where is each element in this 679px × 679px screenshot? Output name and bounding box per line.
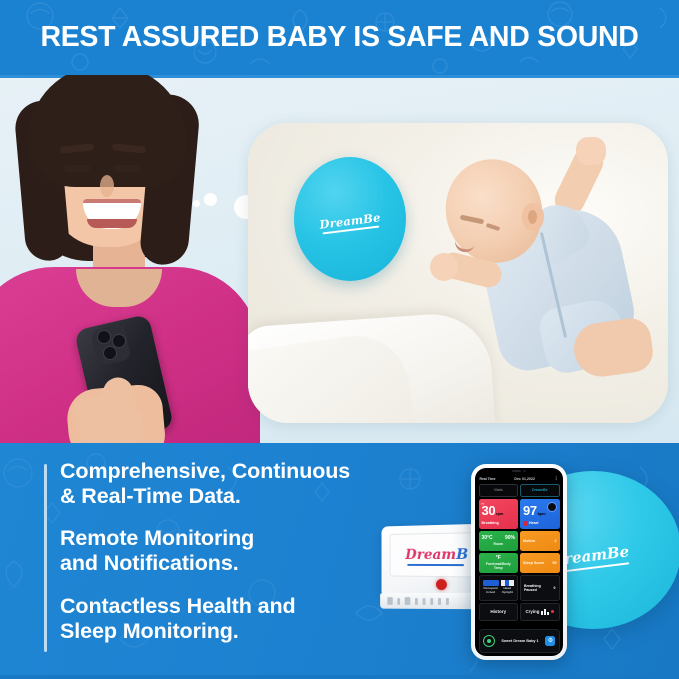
bullet-line: & Real-Time Data. <box>60 484 420 509</box>
breathing-label: Breathing <box>482 521 516 525</box>
bullet-line: Contactless Health and <box>60 594 420 619</box>
bullet-line: Comprehensive, Continuous <box>60 459 420 484</box>
bottom-edge <box>0 675 679 679</box>
crib-photo-card: DreamBe <box>248 123 668 423</box>
body-temp-value: °F <box>482 555 516 561</box>
promo-banner: REST ASSURED BABY IS SAFE AND SOUND <box>0 0 679 679</box>
logo-main-text: Dream <box>405 547 456 563</box>
dreambe-logo-text: DreamBe <box>319 211 382 232</box>
occupancy-tile[interactable]: Occupant in bed Head Upright <box>479 575 519 601</box>
room-temperature: 30°C <box>482 535 493 541</box>
bullet-line: and Notifications. <box>60 551 420 576</box>
app-screen: Real Time Dec 01,2022 ⋮ Vitals DreamBe ∾… <box>475 468 563 656</box>
phone-notch <box>504 469 534 474</box>
speech-dot-small <box>193 200 200 207</box>
bullet-item: Comprehensive, Continuous & Real-Time Da… <box>60 459 420 509</box>
power-led-icon <box>436 579 447 590</box>
buttons-row: History Crying <box>479 603 560 621</box>
motion-label: Motion <box>523 539 535 543</box>
status-row: Occupant in bed Head Upright Breathing P… <box>479 575 560 601</box>
app-statusbar: Real Time Dec 01,2022 ⋮ <box>477 475 562 484</box>
breathing-paused-value: 0 <box>554 586 556 590</box>
breathing-unit: rpm <box>496 512 503 516</box>
bullet-item: Remote Monitoring and Notifications. <box>60 526 420 576</box>
app-tabs: Vitals DreamBe <box>477 484 562 499</box>
heart-dot-icon <box>523 521 528 526</box>
dashboard-grid: ∾ 30rpm Breathing 97bpm Heart 30°C <box>477 499 562 627</box>
phone-mockup: Real Time Dec 01,2022 ⋮ Vitals DreamBe ∾… <box>471 464 567 660</box>
motion-value: 2 <box>554 539 556 543</box>
speech-dot-medium <box>204 193 217 206</box>
logo-accent-text: B <box>456 547 468 563</box>
sleep-score-label: Sleep Score <box>523 561 544 565</box>
room-environment-tile[interactable]: 30°C 90% Room <box>479 531 519 551</box>
settings-gear-icon[interactable]: ⚙ <box>545 636 555 646</box>
head-upright-label: Head Upright <box>501 587 515 594</box>
breathing-paused-tile[interactable]: Breathing Paused 0 <box>520 575 560 601</box>
room-label: Room <box>482 542 516 546</box>
history-button[interactable]: History <box>479 603 519 621</box>
heart-ring-icon <box>547 502 557 512</box>
history-label: History <box>483 609 515 614</box>
bullet-line: Sleep Monitoring. <box>60 619 420 644</box>
crying-level-icon <box>541 609 549 615</box>
motion-tile[interactable]: Motion 2 <box>520 531 560 551</box>
accent-divider <box>44 464 47 652</box>
base-station-logo: DreamB <box>405 547 468 563</box>
heart-label: Heart <box>523 521 557 526</box>
page-title: REST ASSURED BABY IS SAFE AND SOUND <box>0 0 679 75</box>
body-temp-label: Forehead/Body Temp <box>482 562 516 570</box>
crying-led-icon <box>551 610 554 613</box>
banner-header: REST ASSURED BABY IS SAFE AND SOUND <box>0 0 679 75</box>
profile-name: Sweet Dream Baby 1 <box>501 639 538 643</box>
bullet-item: Contactless Health and Sleep Monitoring. <box>60 594 420 644</box>
held-smartphone <box>72 321 192 443</box>
breathing-wave-icon: ∾ <box>481 501 484 506</box>
tab-vitals[interactable]: Vitals <box>479 484 519 497</box>
room-humidity: 90% <box>505 535 515 541</box>
app-footer: Sweet Dream Baby 1 ⚙ <box>479 629 560 653</box>
sleep-score-value: 95 <box>552 561 556 565</box>
more-vertical-icon[interactable]: ⋮ <box>554 477 559 482</box>
sensor-disc-on-mattress: DreamBe <box>294 157 406 281</box>
realtime-label: Real Time <box>480 477 496 481</box>
bullet-line: Remote Monitoring <box>60 526 420 551</box>
record-icon[interactable] <box>483 635 495 647</box>
vitals-row: ∾ 30rpm Breathing 97bpm Heart <box>479 499 560 529</box>
occupant-label: Occupant in bed <box>483 587 499 594</box>
heart-unit: bpm <box>538 512 546 516</box>
tab-dreambe[interactable]: DreamBe <box>520 484 560 497</box>
sleep-score-tile[interactable]: Sleep Score 95 <box>520 553 560 573</box>
breathing-paused-label: Breathing Paused <box>524 584 554 592</box>
hero-photo: DreamBe <box>0 75 679 443</box>
date-label: Dec 01,2022 <box>514 477 535 481</box>
temperature-row: °F Forehead/Body Temp Sleep Score 95 <box>479 553 560 573</box>
crying-button[interactable]: Crying <box>520 603 560 621</box>
heart-value: 97 <box>523 503 537 518</box>
environment-row: 30°C 90% Room Motion 2 <box>479 531 560 551</box>
heart-tile[interactable]: 97bpm Heart <box>520 499 560 529</box>
feature-bullets: Comprehensive, Continuous & Real-Time Da… <box>60 459 420 644</box>
crying-label: Crying <box>526 609 540 614</box>
mother-figure <box>0 75 258 443</box>
breathing-tile[interactable]: ∾ 30rpm Breathing <box>479 499 519 529</box>
body-temp-tile[interactable]: °F Forehead/Body Temp <box>479 553 519 573</box>
